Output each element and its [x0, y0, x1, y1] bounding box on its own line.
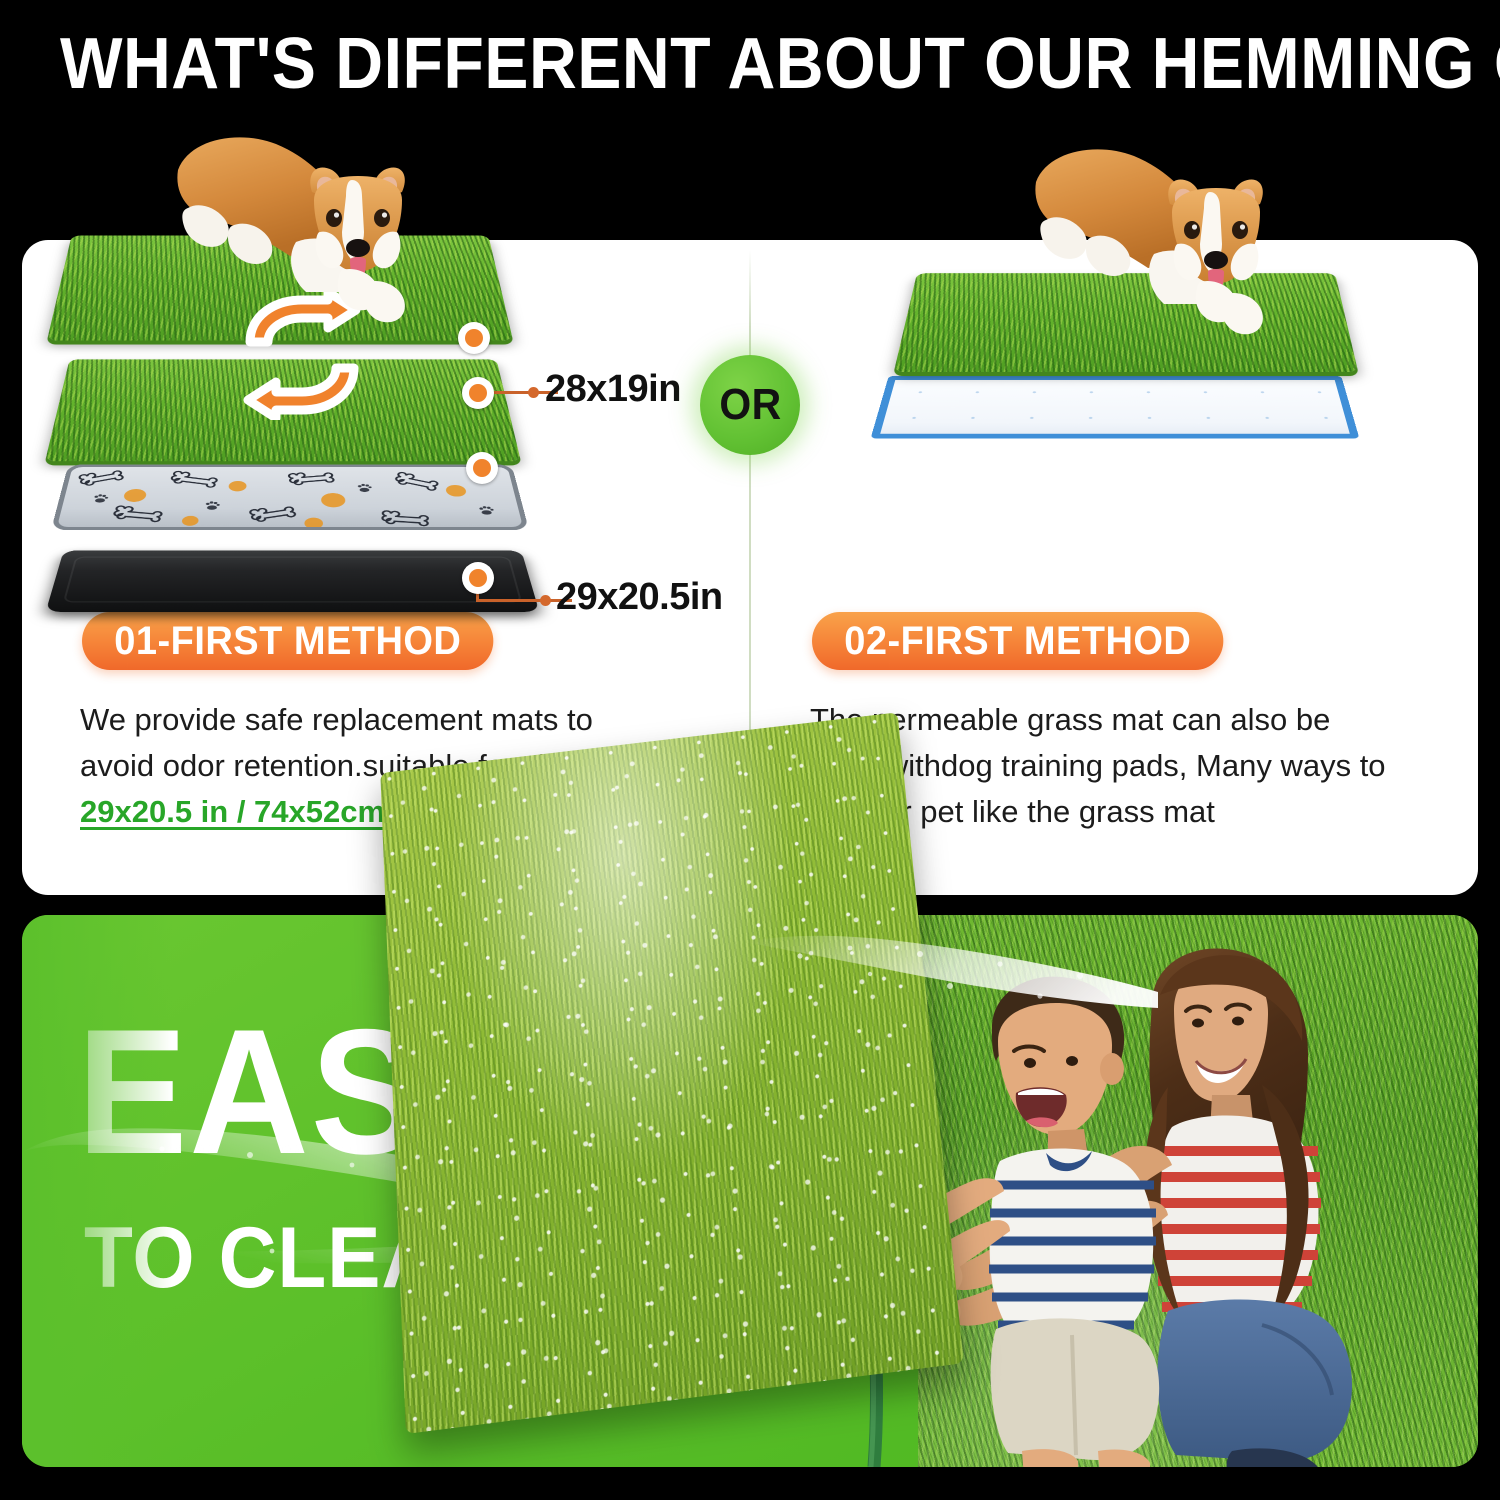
callout-dot-tray — [462, 562, 494, 594]
training-pad — [871, 376, 1360, 439]
or-badge-label: OR — [719, 380, 781, 430]
callout-dot-pad — [466, 452, 498, 484]
product-photo-right — [860, 160, 1480, 490]
callout-label-grass: 28x19in — [545, 368, 681, 411]
callout-dot-grass — [458, 322, 490, 354]
wet-grass-mat-surface — [380, 712, 963, 1434]
corgi-dog-right — [1028, 142, 1318, 377]
corgi-dog-left — [170, 130, 460, 365]
size-highlight: 29x20.5 in / 74x52cm — [80, 794, 385, 829]
or-badge: OR — [700, 355, 800, 455]
callout-line-end-grass — [528, 387, 539, 398]
page-title: WHAT'S DIFFERENT ABOUT OUR HEMMING GRASS… — [60, 28, 1440, 100]
method-badge-02-label: 02-FIRST METHOD — [844, 619, 1191, 664]
absorbent-pad — [51, 464, 529, 530]
infographic-stage: WHAT'S DIFFERENT ABOUT OUR HEMMING GRASS… — [0, 0, 1500, 1500]
bone-paw-pattern-icon — [55, 467, 529, 530]
callout-label-tray: 29x20.5in — [556, 576, 723, 619]
callout-line-end-tray — [540, 595, 551, 606]
method-badge-02: 02-FIRST METHOD — [812, 612, 1224, 670]
callout-dot-grass-2 — [462, 377, 494, 409]
wet-grass-mat — [392, 728, 932, 1388]
